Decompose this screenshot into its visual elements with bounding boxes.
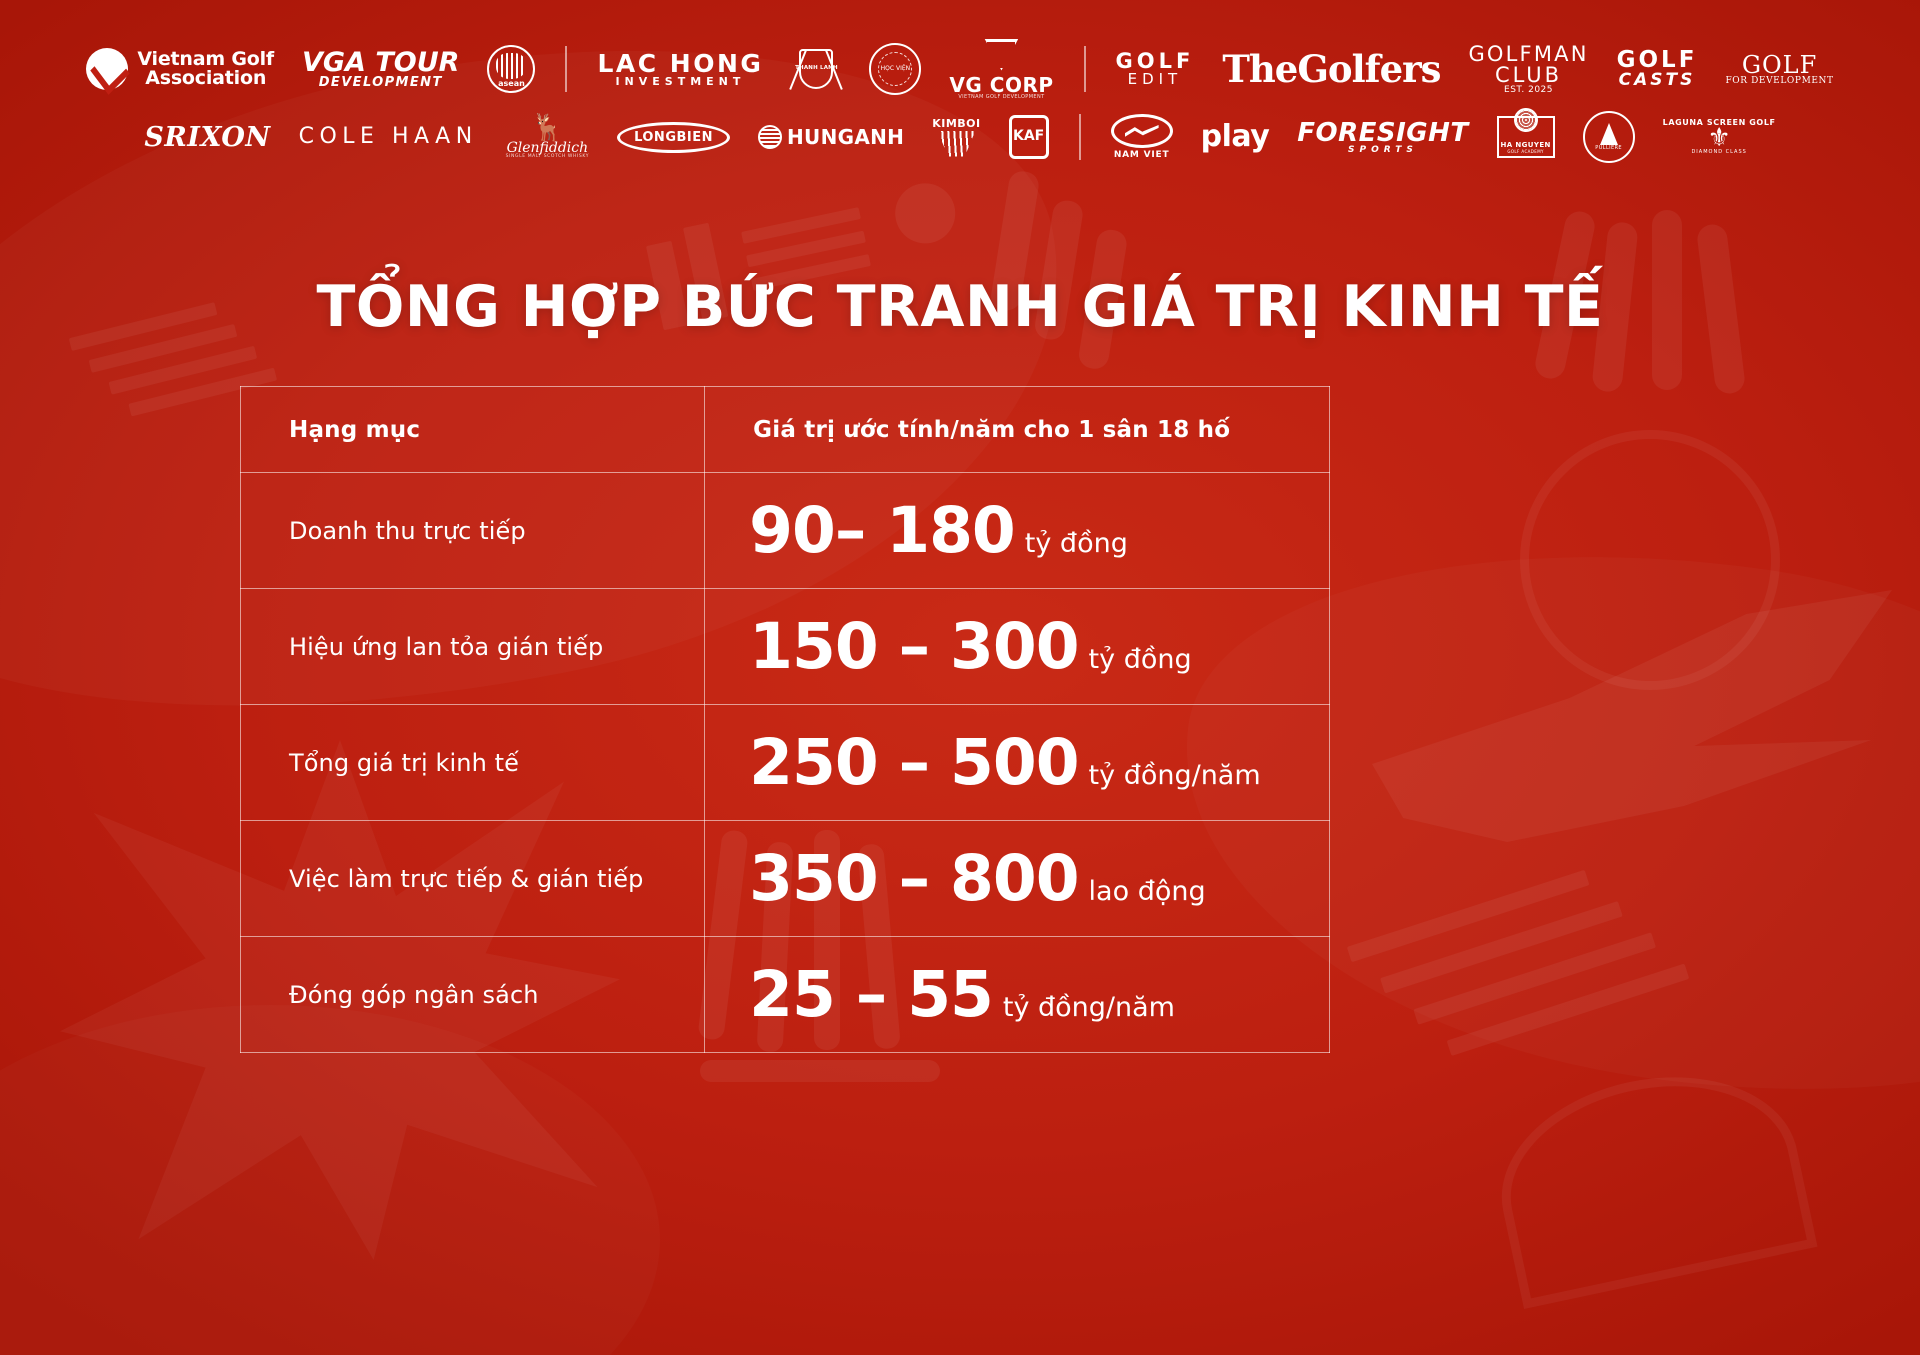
cell-value: 90– 180tỷ đồng (705, 473, 1330, 589)
logo-line-2: CASTS (1619, 72, 1696, 89)
sponsor-logo-row-1: Vietnam Golf Association VGA TOUR DEVELO… (0, 38, 1920, 100)
value-unit: tỷ đồng/năm (1089, 760, 1261, 791)
table-row: Hiệu ứng lan tỏa gián tiếp 150 – 300tỷ đ… (241, 589, 1330, 705)
logo-kim-boi[interactable]: KIMBOI (918, 118, 994, 157)
stag-icon: 🦌 (531, 115, 563, 141)
golf-ball-icon (1514, 108, 1538, 132)
logo-golf-edit[interactable]: GOLF EDIT (1102, 51, 1209, 87)
logo-line-1: LONGBIEN (617, 122, 730, 153)
slide-canvas: Vietnam Golf Association VGA TOUR DEVELO… (0, 0, 1920, 1355)
logo-line-1: THANH LANH (795, 66, 838, 72)
table-row: Đóng góp ngân sách 25 – 55tỷ đồng/năm (241, 937, 1330, 1053)
logo-golfman-club[interactable]: GOLFMAN CLUB EST. 2025 (1454, 44, 1602, 95)
logo-line-1: play (1201, 122, 1270, 152)
logo-line-1: PULLIERE (1595, 146, 1622, 151)
value-unit: tỷ đồng (1089, 644, 1192, 675)
logo-golf-club-seal[interactable]: HỌC VIỆN (855, 43, 935, 95)
cell-value: 350 – 800lao động (705, 821, 1330, 937)
vg-triangle-icon (984, 39, 1018, 71)
logo-line-2: CLUB (1495, 65, 1562, 86)
cell-item: Tổng giá trị kinh tế (241, 705, 705, 821)
asean-rice-icon: asean (487, 45, 535, 93)
table-row: Tổng giá trị kinh tế 250 – 500tỷ đồng/nă… (241, 705, 1330, 821)
logo-divider (565, 46, 567, 92)
fleur-de-lis-icon: ⚜ (1707, 127, 1730, 150)
logo-vietnam-golf-association[interactable]: Vietnam Golf Association (72, 48, 288, 90)
pulliere-seal-icon: PULLIERE (1583, 111, 1635, 163)
logo-line-1: FORESIGHT (1297, 120, 1468, 146)
table-header-row: Hạng mục Giá trị ước tính/năm cho 1 sân … (241, 387, 1330, 473)
logo-foresight-sports[interactable]: FORESIGHT SPORTS (1283, 120, 1482, 155)
logo-line-2: GOLF ACADEMY (1500, 150, 1550, 154)
watermark-arc (1482, 1051, 1817, 1309)
logo-divider (1084, 46, 1086, 92)
logo-line-1: COLE HAAN (299, 126, 478, 148)
logo-line-1: GOLF (1617, 49, 1698, 72)
cell-value: 250 – 500tỷ đồng/năm (705, 705, 1330, 821)
logo-line-1: VGA TOUR (302, 49, 459, 76)
logo-line-2: EDIT (1128, 72, 1183, 87)
value-number: 250 – 500 (749, 726, 1078, 799)
page-title: TỔNG HỢP BỨC TRANH GIÁ TRỊ KINH TẾ (0, 274, 1920, 340)
logo-glenfiddich[interactable]: 🦌 Glenfiddich SINGLE MALT SCOTCH WHISKY (492, 115, 603, 160)
logo-asean[interactable]: asean (473, 45, 549, 93)
logo-line-1: KIMBOI (932, 118, 980, 129)
value-unit: tỷ đồng/năm (1003, 992, 1175, 1023)
column-header-item: Hạng mục (241, 387, 705, 473)
watermark-circle (1520, 430, 1780, 690)
seal-icon: HỌC VIỆN (869, 43, 921, 95)
table-header: Hạng mục Giá trị ước tính/năm cho 1 sân … (241, 387, 1330, 473)
logo-golf-for-development[interactable]: GOLF FOR DEVELOPMENT (1711, 53, 1847, 86)
logo-line-1: asean (498, 80, 525, 88)
vga-swoosh-icon (86, 48, 128, 90)
watermark-dongson-bottom-right (1347, 830, 1813, 1271)
value-unit: tỷ đồng (1025, 528, 1128, 559)
logo-ha-nguyen-golf-academy[interactable]: HA NGUYEN GOLF ACADEMY (1483, 116, 1569, 158)
logo-pulliere[interactable]: PULLIERE (1569, 111, 1649, 163)
logo-line-2: DIAMOND CLASS (1691, 150, 1746, 155)
cell-item: Đóng góp ngân sách (241, 937, 705, 1053)
logo-golf-casts[interactable]: GOLF CASTS (1603, 49, 1712, 89)
logo-line-1: SRIXON (144, 124, 270, 151)
logo-line-1: GOLF (1116, 51, 1195, 72)
logo-nam-viet[interactable]: NAM VIET (1097, 114, 1187, 160)
academy-badge-icon: HA NGUYEN GOLF ACADEMY (1497, 116, 1555, 158)
logo-hung-anh[interactable]: HUNGANH (744, 125, 918, 149)
cell-item: Việc làm trực tiếp & gián tiếp (241, 821, 705, 937)
logo-est-label: EST. (1504, 85, 1525, 95)
kaf-badge-icon: KAF (1009, 115, 1049, 159)
value-number: 150 – 300 (749, 610, 1078, 683)
column-header-value: Giá trị ước tính/năm cho 1 sân 18 hố (705, 387, 1330, 473)
logo-vga-tour-development[interactable]: VGA TOUR DEVELOPMENT (288, 49, 473, 89)
globe-icon (758, 125, 782, 149)
logo-line-1: NAM VIET (1114, 151, 1170, 160)
logo-line-2: FOR DEVELOPMENT (1725, 77, 1833, 86)
value-number: 90– 180 (749, 494, 1015, 567)
logo-line-1: LAC HONG (597, 51, 763, 76)
table-row: Doanh thu trực tiếp 90– 180tỷ đồng (241, 473, 1330, 589)
logo-line-2: INVESTMENT (615, 76, 745, 87)
cell-value: 150 – 300tỷ đồng (705, 589, 1330, 705)
logo-line-1: VG CORP (949, 75, 1053, 95)
logo-line-1: Glenfiddich (507, 141, 589, 155)
logo-line-2: SPORTS (1348, 146, 1418, 155)
watermark-bird-motif (1372, 590, 1892, 890)
value-number: 350 – 800 (749, 842, 1078, 915)
cell-item: Hiệu ứng lan tỏa gián tiếp (241, 589, 705, 705)
table-body: Doanh thu trực tiếp 90– 180tỷ đồng Hiệu … (241, 473, 1330, 1053)
logo-divider (1079, 114, 1081, 160)
logo-line-1: KAF (1013, 130, 1044, 143)
eiffel-tower-icon (1600, 123, 1618, 145)
value-unit: lao động (1089, 876, 1206, 907)
logo-laguna-screen-golf[interactable]: LAGUNA SCREEN GOLF ⚜ DIAMOND CLASS (1649, 119, 1790, 155)
golf-crest-icon: THANH LANH (791, 43, 841, 95)
logo-year: 2025 (1528, 85, 1553, 95)
watermark-bird-right (1510, 210, 1830, 510)
logo-lac-hong-investment[interactable]: LAC HONG INVESTMENT (583, 51, 777, 87)
shield-icon: THANH LANH (799, 49, 833, 89)
logo-srixon[interactable]: SRIXON (130, 124, 284, 151)
logo-thanh-lanh-golf[interactable]: THANH LANH (777, 43, 855, 95)
sponsor-logo-row-2: SRIXON COLE HAAN 🦌 Glenfiddich SINGLE MA… (0, 106, 1920, 168)
fan-icon (937, 131, 975, 157)
logo-line-1: TheGolfers (1222, 51, 1440, 88)
logo-line-1: HUNGANH (787, 127, 904, 147)
namviet-oval-icon (1111, 114, 1173, 148)
logo-line-1: GOLFMAN (1468, 44, 1588, 65)
cell-item: Doanh thu trực tiếp (241, 473, 705, 589)
watermark-sweep-bottom-left (0, 1005, 660, 1355)
logo-line-2: VIETNAM GOLF DEVELOPMENT (958, 95, 1044, 100)
logo-line-1: GOLF (1742, 53, 1817, 77)
logo-the-golfers[interactable]: TheGolfers (1208, 51, 1454, 88)
logo-kaf[interactable]: KAF (995, 115, 1063, 159)
wave-icon (1125, 125, 1159, 137)
table-row: Việc làm trực tiếp & gián tiếp 350 – 800… (241, 821, 1330, 937)
logo-line-2: SINGLE MALT SCOTCH WHISKY (506, 155, 589, 160)
value-number: 25 – 55 (749, 958, 993, 1031)
logo-line-1: HA NGUYEN (1500, 141, 1550, 149)
logo-cole-haan[interactable]: COLE HAAN (285, 126, 492, 148)
cell-value: 25 – 55tỷ đồng/năm (705, 937, 1330, 1053)
economic-value-table: Hạng mục Giá trị ước tính/năm cho 1 sân … (240, 386, 1330, 1053)
asean-rays-icon (496, 53, 526, 79)
logo-line-2: DEVELOPMENT (319, 76, 443, 89)
logo-line-2: Association (145, 69, 266, 88)
logo-long-bien[interactable]: LONGBIEN (603, 122, 744, 153)
logo-line-1: HỌC VIỆN (878, 52, 912, 86)
logo-vg-corp[interactable]: VG CORP VIETNAM GOLF DEVELOPMENT (935, 39, 1067, 100)
logo-play[interactable]: play (1187, 122, 1284, 152)
